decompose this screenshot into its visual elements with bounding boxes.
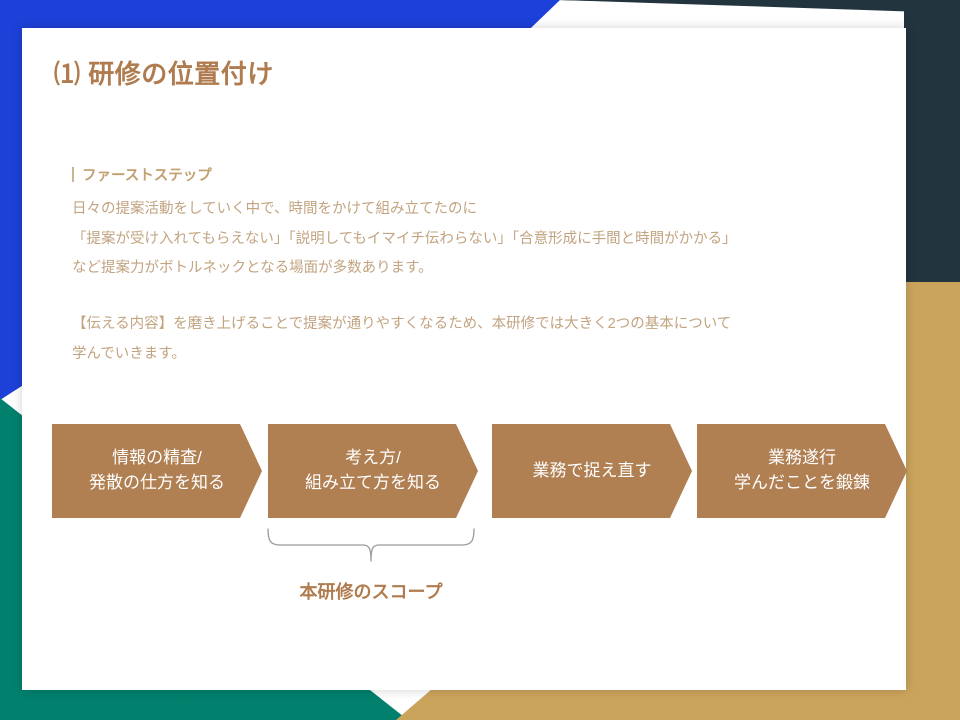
flow-step-2-line-2: 組み立て方を知る (305, 471, 441, 496)
flow-step-2: 考え方/ 組み立て方を知る (268, 424, 478, 518)
paragraph-1-line-1: 日々の提案活動をしていく中で、時間をかけて組み立てたのに (72, 195, 882, 225)
flow-step-2-line-1: 考え方/ (305, 446, 441, 471)
flow-step-3-line-1: 業務で捉え直す (533, 459, 652, 484)
body-copy-block: ファーストステップ 日々の提案活動をしていく中で、時間をかけて組み立てたのに 「… (72, 164, 882, 370)
flow-step-3-label: 業務で捉え直す (523, 459, 662, 484)
flow-step-2-label: 考え方/ 組み立て方を知る (295, 446, 451, 495)
flow-step-1-label: 情報の精査/ 発散の仕方を知る (79, 446, 235, 495)
flow-step-1-line-2: 発散の仕方を知る (89, 471, 225, 496)
paragraph-2-line-2: 学んでいきます。 (72, 340, 882, 370)
flow-step-3: 業務で捉え直す (492, 424, 692, 518)
paragraph-1-line-2: 「提案が受け入れてもらえない」「説明してもイマイチ伝わらない」「合意形成に手間と… (72, 225, 882, 255)
paragraph-1: 日々の提案活動をしていく中で、時間をかけて組み立てたのに 「提案が受け入れてもら… (72, 195, 882, 284)
brace-path (268, 529, 474, 561)
flow-step-4-line-2: 学んだことを鍛錬 (734, 471, 870, 496)
flow-step-1: 情報の精査/ 発散の仕方を知る (52, 424, 262, 518)
flow-step-4-label: 業務遂行 学んだことを鍛錬 (724, 446, 880, 495)
process-flow: 情報の精査/ 発散の仕方を知る 考え方/ 組み立て方を知る 業務で捉え直す 業務… (52, 424, 932, 520)
vertical-bar-icon (72, 167, 74, 182)
paragraph-2-line-1: 【伝える内容】を磨き上げることで提案が通りやすくなるため、本研修では大きく2つの… (72, 310, 882, 340)
lead-heading: ファーストステップ (72, 164, 882, 185)
flow-step-4: 業務遂行 学んだことを鍛錬 (697, 424, 907, 518)
slide-canvas: ⑴ 研修の位置付け ファーストステップ 日々の提案活動をしていく中で、時間をかけ… (0, 0, 960, 720)
paragraph-1-line-3: など提案力がボトルネックとなる場面が多数あります。 (72, 254, 882, 284)
flow-step-1-line-1: 情報の精査/ (89, 446, 225, 471)
paragraph-2: 【伝える内容】を磨き上げることで提案が通りやすくなるため、本研修では大きく2つの… (72, 310, 882, 369)
scope-brace (264, 528, 478, 564)
flow-step-4-line-1: 業務遂行 (734, 446, 870, 471)
scope-caption: 本研修のスコープ (264, 578, 478, 604)
page-title: ⑴ 研修の位置付け (54, 54, 274, 91)
lead-heading-label: ファーストステップ (82, 164, 212, 185)
